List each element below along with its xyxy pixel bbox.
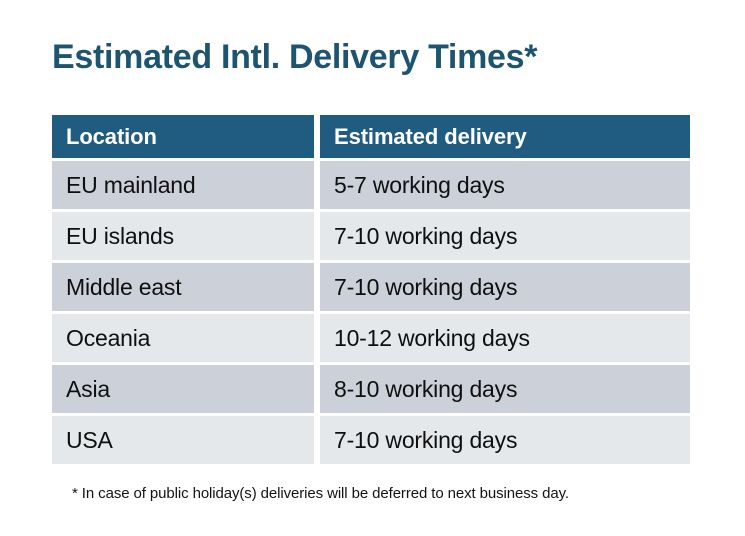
cell-location: EU islands [52, 212, 314, 260]
column-header-estimated-delivery: Estimated delivery [320, 115, 690, 158]
cell-estimated-delivery: 7-10 working days [320, 416, 690, 464]
column-header-location: Location [52, 115, 314, 158]
table-row: Asia 8-10 working days [52, 365, 690, 413]
table-row: EU islands 7-10 working days [52, 212, 690, 260]
estimated-delivery-times-table: Location Estimated delivery EU mainland … [52, 115, 690, 464]
cell-location: EU mainland [52, 161, 314, 209]
page-title: Estimated Intl. Delivery Times* [52, 36, 537, 78]
cell-estimated-delivery: 7-10 working days [320, 263, 690, 311]
cell-estimated-delivery: 8-10 working days [320, 365, 690, 413]
cell-location: Asia [52, 365, 314, 413]
table-row: Middle east 7-10 working days [52, 263, 690, 311]
footnote-text: * In case of public holiday(s) deliverie… [72, 484, 569, 504]
cell-estimated-delivery: 7-10 working days [320, 212, 690, 260]
table-header-row: Location Estimated delivery [52, 115, 690, 158]
table-row: Oceania 10-12 working days [52, 314, 690, 362]
cell-estimated-delivery: 5-7 working days [320, 161, 690, 209]
cell-location: USA [52, 416, 314, 464]
cell-estimated-delivery: 10-12 working days [320, 314, 690, 362]
table-row: EU mainland 5-7 working days [52, 161, 690, 209]
delivery-times-page: Estimated Intl. Delivery Times* Location… [0, 0, 745, 536]
table-row: USA 7-10 working days [52, 416, 690, 464]
cell-location: Middle east [52, 263, 314, 311]
cell-location: Oceania [52, 314, 314, 362]
